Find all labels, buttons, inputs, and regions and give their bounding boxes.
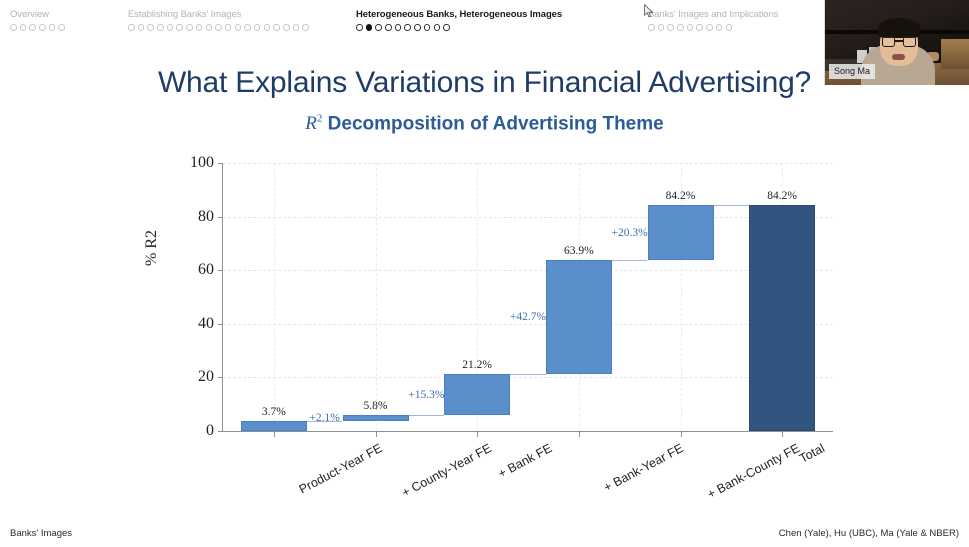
- webcam-person-mouth: [892, 54, 905, 60]
- y-gridline: [223, 324, 833, 325]
- x-tick-mark: [477, 431, 478, 437]
- y-tick-label: 20: [198, 369, 214, 385]
- x-gridline: [376, 163, 377, 431]
- x-gridline: [274, 163, 275, 431]
- x-tick-mark: [579, 431, 580, 437]
- x-tick-label: + Bank-County FE: [704, 441, 801, 501]
- x-tick-mark: [376, 431, 377, 437]
- y-axis-title: % R2: [143, 230, 161, 266]
- webcam-desk-object-right: [941, 39, 969, 69]
- waterfall-bar[interactable]: [648, 205, 714, 259]
- bar-value-label: 63.9%: [564, 245, 594, 257]
- x-tick-mark: [782, 431, 783, 437]
- footer-right-text: Chen (Yale), Hu (UBC), Ma (Yale & NBER): [779, 528, 959, 539]
- y-gridline: [223, 163, 833, 164]
- bar-value-label: 3.7%: [262, 406, 286, 418]
- x-tick-label: + County-Year FE: [399, 441, 493, 500]
- x-tick-mark: [274, 431, 275, 437]
- webcam-person-hair: [878, 18, 920, 38]
- y-tick-mark: [218, 270, 223, 271]
- mouse-cursor-icon: [644, 4, 654, 18]
- waterfall-bar[interactable]: [749, 205, 815, 431]
- y-gridline: [223, 377, 833, 378]
- waterfall-connector: [510, 374, 546, 375]
- y-tick-mark: [218, 163, 223, 164]
- waterfall-delta-label: +20.3%: [612, 227, 648, 239]
- waterfall-bar[interactable]: [546, 260, 612, 374]
- y-gridline: [223, 270, 833, 271]
- y-tick-label: 100: [190, 155, 214, 171]
- y-tick-label: 0: [206, 423, 214, 439]
- x-tick-label: Total: [797, 441, 827, 466]
- footer-left-text: Banks' Images: [10, 528, 72, 539]
- x-tick-label: + Bank-Year FE: [601, 441, 685, 495]
- x-tick-label: Product-Year FE: [297, 441, 385, 497]
- y-tick-label: 80: [198, 209, 214, 225]
- waterfall-connector-total: [714, 205, 750, 206]
- x-gridline: [681, 163, 682, 431]
- y-tick-label: 60: [198, 262, 214, 278]
- waterfall-bar[interactable]: [343, 415, 409, 421]
- x-tick-mark: [681, 431, 682, 437]
- y-tick-mark: [218, 217, 223, 218]
- y-tick-mark: [218, 324, 223, 325]
- waterfall-delta-label: +42.7%: [510, 311, 546, 323]
- webcam-person-glasses-icon: [882, 36, 916, 47]
- bar-value-label: 84.2%: [767, 190, 797, 202]
- bar-value-label: 84.2%: [666, 190, 696, 202]
- waterfall-delta-label: +15.3%: [408, 389, 444, 401]
- plot-area: 020406080100Product-Year FE+ County-Year…: [222, 163, 833, 432]
- webcam-video-panel[interactable]: Song Ma: [824, 0, 969, 85]
- waterfall-bar[interactable]: [444, 374, 510, 415]
- y-tick-label: 40: [198, 316, 214, 332]
- waterfall-delta-label: +2.1%: [309, 412, 339, 424]
- webcam-participant-name: Song Ma: [829, 64, 875, 79]
- y-tick-mark: [218, 431, 223, 432]
- y-tick-mark: [218, 377, 223, 378]
- y-gridline: [223, 217, 833, 218]
- bar-value-label: 5.8%: [364, 400, 388, 412]
- waterfall-bar[interactable]: [241, 421, 307, 431]
- waterfall-connector: [612, 260, 648, 261]
- bar-value-label: 21.2%: [462, 359, 492, 371]
- x-tick-label: + Bank FE: [496, 441, 554, 481]
- waterfall-connector: [409, 415, 445, 416]
